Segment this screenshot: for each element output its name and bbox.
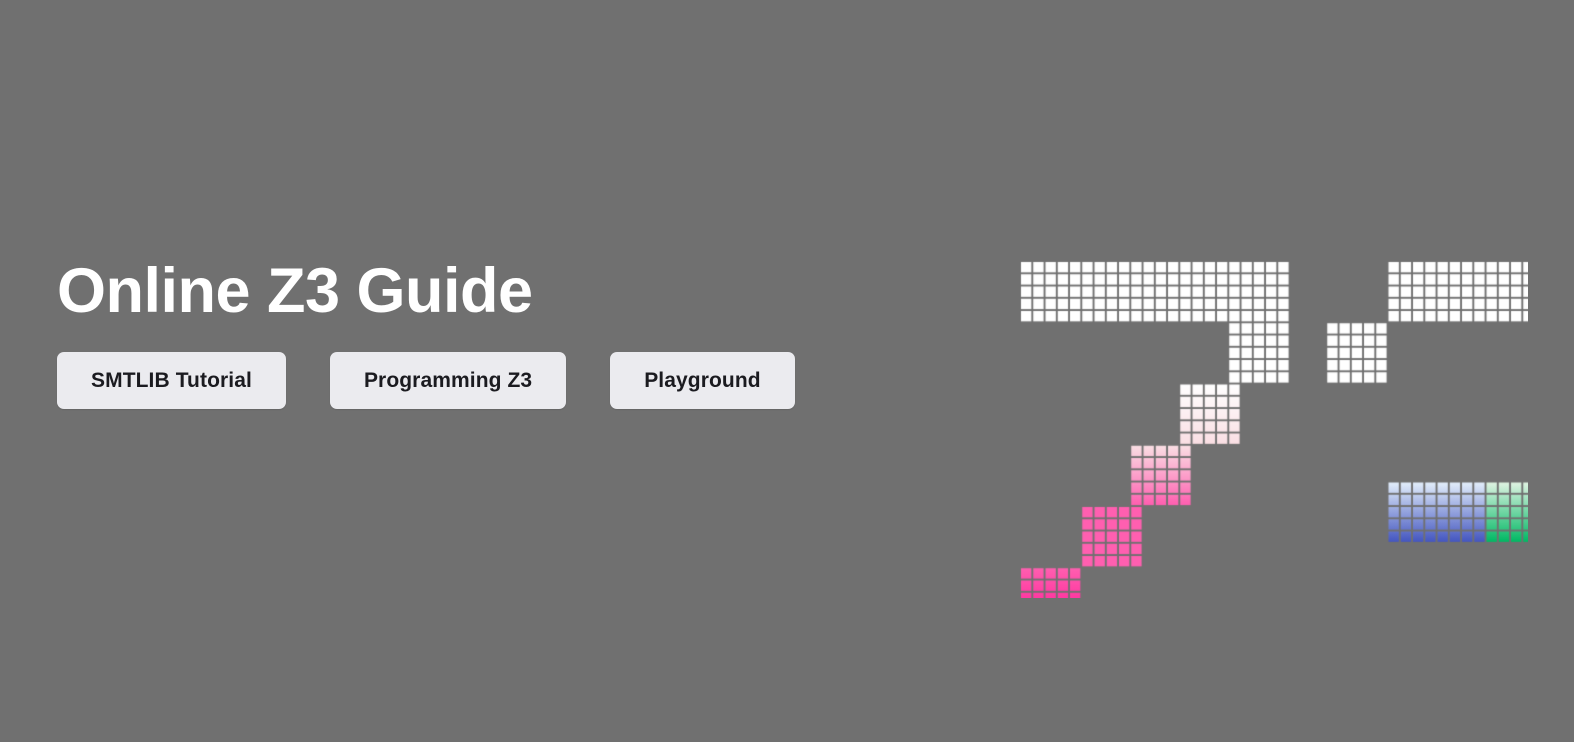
playground-button[interactable]: Playground [610, 352, 795, 409]
hero-section: Online Z3 Guide SMTLIB Tutorial Programm… [0, 0, 1574, 742]
z3-logo-canvas [1008, 248, 1528, 598]
cta-button-row: SMTLIB Tutorial Programming Z3 Playgroun… [57, 352, 957, 409]
programming-z3-button[interactable]: Programming Z3 [330, 352, 566, 409]
z3-logo [1008, 248, 1528, 598]
page-title: Online Z3 Guide [57, 258, 957, 324]
smtlib-tutorial-button[interactable]: SMTLIB Tutorial [57, 352, 286, 409]
hero-text-column: Online Z3 Guide SMTLIB Tutorial Programm… [57, 258, 957, 409]
